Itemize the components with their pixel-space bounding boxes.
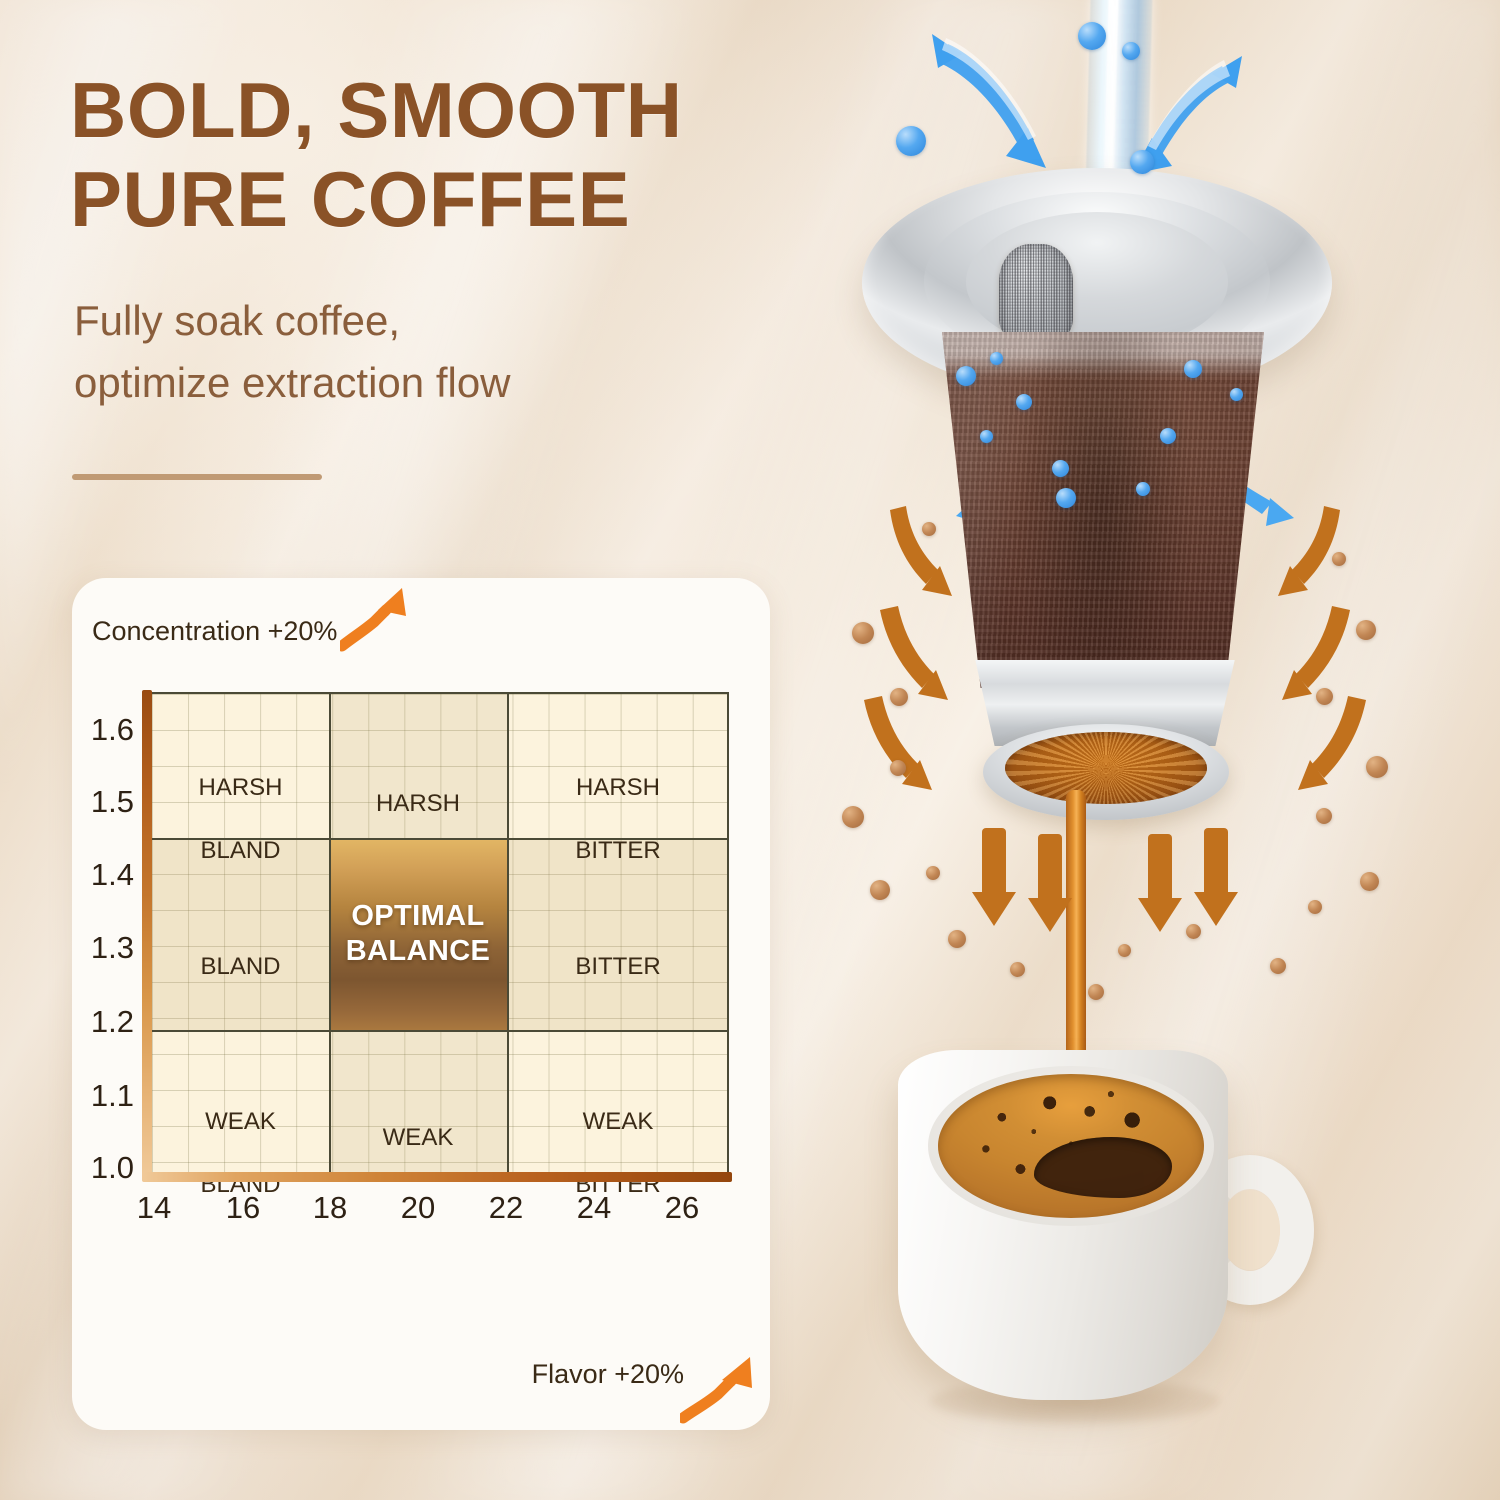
brown-coffee-particle-icon bbox=[1010, 962, 1025, 977]
brown-coffee-particle-icon bbox=[1332, 552, 1346, 566]
cell-label-bland: BLAND bbox=[152, 919, 329, 982]
y-tick-1: 1.5 bbox=[91, 784, 134, 820]
x-tick-3: 20 bbox=[401, 1190, 435, 1226]
optimal-balance-label: OPTIMAL BALANCE bbox=[346, 899, 491, 970]
brewing-illustration bbox=[830, 0, 1500, 1500]
concentration-up-arrow-icon bbox=[340, 586, 408, 652]
chart-x-axis-ticks: 14 16 18 20 22 24 26 bbox=[72, 1190, 770, 1230]
flavor-up-arrow-icon bbox=[680, 1354, 754, 1424]
optimal-balance-label-line-2: BALANCE bbox=[346, 935, 491, 967]
x-tick-1: 16 bbox=[226, 1190, 260, 1226]
cell-label-harsh-bitter-line-1: HARSH bbox=[576, 774, 660, 801]
brown-coffee-particle-icon bbox=[1360, 872, 1379, 891]
brown-coffee-particle-icon bbox=[1366, 756, 1388, 778]
chart-x-axis-bar bbox=[142, 1172, 732, 1182]
chart-y-axis-ticks: 1.6 1.5 1.4 1.3 1.2 1.1 1.0 bbox=[72, 578, 134, 1430]
brew-matrix-chart-card: Concentration +20% Flavor +20% OPTIMAL B… bbox=[72, 578, 770, 1430]
blue-droplet-icon bbox=[990, 352, 1003, 365]
brown-coffee-particle-icon bbox=[1316, 688, 1333, 705]
page-subtitle-line-2: optimize extraction flow bbox=[74, 359, 511, 406]
brown-coffee-particle-icon bbox=[1186, 924, 1201, 939]
blue-droplet-icon bbox=[1122, 42, 1140, 60]
page-title-line-1: BOLD, SMOOTH bbox=[70, 66, 683, 154]
brown-coffee-particle-icon bbox=[1316, 808, 1332, 824]
cell-label-harsh: HARSH bbox=[329, 756, 507, 819]
y-tick-3: 1.3 bbox=[91, 930, 134, 966]
brown-coffee-particle-icon bbox=[1356, 620, 1376, 640]
blue-droplet-icon bbox=[1056, 488, 1076, 508]
x-tick-2: 18 bbox=[313, 1190, 347, 1226]
blue-droplet-icon bbox=[1130, 150, 1154, 174]
chart-hline-1-15 bbox=[152, 1030, 727, 1032]
blue-droplet-icon bbox=[1052, 460, 1069, 477]
x-tick-5: 24 bbox=[577, 1190, 611, 1226]
cell-label-bitter-text: BITTER bbox=[575, 953, 660, 980]
cell-label-bland-text: BLAND bbox=[200, 953, 280, 980]
headline-divider bbox=[72, 474, 322, 480]
blue-droplet-icon bbox=[1184, 360, 1202, 378]
cell-label-harsh-text: HARSH bbox=[376, 790, 460, 817]
brown-coffee-particle-icon bbox=[842, 806, 864, 828]
cell-label-weak-text: WEAK bbox=[383, 1124, 454, 1151]
coffee-cup bbox=[890, 1040, 1310, 1440]
cell-label-bitter: BITTER bbox=[507, 919, 729, 982]
chart-y-axis-bar bbox=[142, 690, 152, 1176]
optimal-balance-region: OPTIMAL BALANCE bbox=[329, 838, 507, 1030]
y-tick-0: 1.6 bbox=[91, 712, 134, 748]
x-tick-4: 22 bbox=[489, 1190, 523, 1226]
blue-droplet-icon bbox=[1136, 482, 1150, 496]
cell-label-harsh-bland: HARSH BLAND bbox=[152, 740, 329, 867]
optimal-balance-label-line-1: OPTIMAL bbox=[351, 900, 484, 932]
cell-label-weak-bitter-line-1: WEAK bbox=[583, 1108, 654, 1135]
y-tick-4: 1.2 bbox=[91, 1004, 134, 1040]
cell-label-weak-bland-line-1: WEAK bbox=[205, 1108, 276, 1135]
blue-droplet-icon bbox=[980, 430, 993, 443]
chart-plot-area: OPTIMAL BALANCE HARSH BLAND HARSH HARSH … bbox=[152, 692, 729, 1172]
brown-coffee-particle-icon bbox=[1088, 984, 1104, 1000]
brown-coffee-particle-icon bbox=[890, 688, 908, 706]
brown-coffee-particle-icon bbox=[922, 522, 936, 536]
cell-label-harsh-bland-line-2: BLAND bbox=[200, 837, 280, 864]
brown-coffee-particle-icon bbox=[948, 930, 966, 948]
brown-coffee-particle-icon bbox=[1270, 958, 1286, 974]
x-tick-0: 14 bbox=[137, 1190, 171, 1226]
blue-droplet-icon bbox=[1016, 394, 1032, 410]
brown-coffee-particle-icon bbox=[1308, 900, 1322, 914]
x-tick-6: 26 bbox=[665, 1190, 699, 1226]
brown-coffee-particle-icon bbox=[1118, 944, 1131, 957]
page-subtitle-line-1: Fully soak coffee, bbox=[74, 297, 400, 344]
cup-body bbox=[898, 1050, 1228, 1400]
page-title-line-2: PURE COFFEE bbox=[70, 155, 630, 243]
blue-droplet-icon bbox=[1230, 388, 1243, 401]
cell-label-harsh-bitter-line-2: BITTER bbox=[575, 837, 660, 864]
y-tick-2: 1.4 bbox=[91, 857, 134, 893]
brown-coffee-particle-icon bbox=[890, 760, 906, 776]
blue-droplet-icon bbox=[956, 366, 976, 386]
brown-coffee-particle-icon bbox=[852, 622, 874, 644]
blue-droplet-icon bbox=[896, 126, 926, 156]
brown-coffee-particle-icon bbox=[870, 880, 890, 900]
page-subtitle: Fully soak coffee, optimize extraction f… bbox=[74, 290, 900, 414]
page-title: BOLD, SMOOTH PURE COFFEE bbox=[70, 66, 900, 244]
cell-label-weak: WEAK bbox=[329, 1090, 507, 1153]
blue-droplet-icon bbox=[1160, 428, 1176, 444]
brown-coffee-particle-icon bbox=[926, 866, 940, 880]
y-tick-5: 1.1 bbox=[91, 1078, 134, 1114]
cup-handle-opening bbox=[1220, 1190, 1280, 1270]
blue-droplet-icon bbox=[1078, 22, 1106, 50]
y-tick-6: 1.0 bbox=[91, 1150, 134, 1186]
cell-label-harsh-bland-line-1: HARSH bbox=[198, 774, 282, 801]
cell-label-harsh-bitter: HARSH BITTER bbox=[507, 740, 729, 867]
headline-block: BOLD, SMOOTH PURE COFFEE Fully soak coff… bbox=[70, 66, 900, 414]
x-axis-title: Flavor +20% bbox=[532, 1359, 684, 1390]
coffee-crema-surface bbox=[938, 1074, 1204, 1218]
